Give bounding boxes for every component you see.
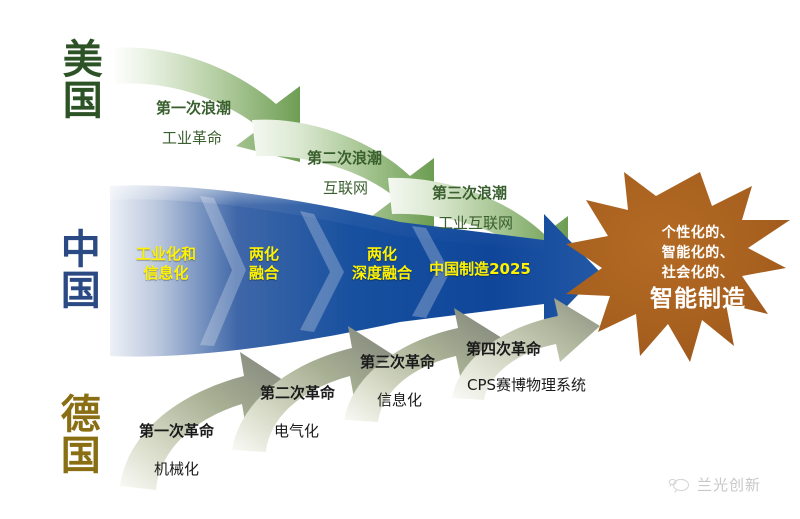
country-label-de: 德国	[56, 393, 97, 475]
burst-shape	[566, 172, 790, 362]
country-label-cn: 中国	[56, 228, 97, 310]
watermark: 兰光创新	[668, 474, 761, 495]
country-label-us: 美国	[58, 38, 99, 120]
speech-bubble-icon	[668, 476, 690, 494]
smart-manufacturing-burst	[566, 172, 790, 362]
diagram-canvas: 美国 中国 德国 第一次浪潮 工业革命 第二次浪潮 互联网 第三次浪潮 工业互联…	[0, 0, 800, 519]
watermark-label: 兰光创新	[697, 474, 761, 495]
diagram-graphics	[0, 0, 800, 519]
